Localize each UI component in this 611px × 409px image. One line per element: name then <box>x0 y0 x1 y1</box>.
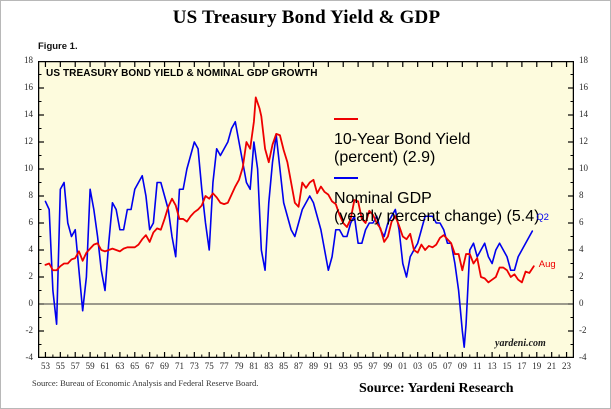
y-axis-left-tick-4: 4 <box>7 244 33 254</box>
y-axis-right-tick-2: 2 <box>579 271 605 281</box>
legend-text-bond-yield: 10-Year Bond Yield (percent) (2.9) <box>334 131 564 167</box>
y-axis-right-tick-18: 18 <box>579 55 605 65</box>
y-axis-right-tick-8: 8 <box>579 190 605 200</box>
legend-line2-nominal-gdp: (yearly percent change) (5.4) <box>334 208 564 226</box>
annotation-aug: Aug <box>539 259 556 270</box>
y-axis-left-tick-14: 14 <box>7 109 33 119</box>
legend-swatch-nominal-gdp <box>334 177 358 179</box>
y-axis-left-tick-0: 0 <box>7 298 33 308</box>
y-axis-right-tick-16: 16 <box>579 82 605 92</box>
y-axis-right-tick--2: -2 <box>579 325 605 335</box>
legend-swatch-bond-yield <box>334 118 358 120</box>
y-axis-left-tick-12: 12 <box>7 136 33 146</box>
y-axis-right-tick-6: 6 <box>579 217 605 227</box>
y-axis-left-tick-10: 10 <box>7 163 33 173</box>
chart-page: US Treasury Bond Yield & GDP Figure 1. U… <box>0 0 611 409</box>
y-axis-right-tick-4: 4 <box>579 244 605 254</box>
legend-line1-bond-yield: 10-Year Bond Yield <box>334 131 564 149</box>
legend-item-nominal-gdp: Nominal GDP (yearly percent change) (5.4… <box>334 172 564 226</box>
page-title: US Treasury Bond Yield & GDP <box>1 7 611 29</box>
y-axis-right-tick-12: 12 <box>579 136 605 146</box>
x-axis-tick-23: 23 <box>557 361 577 371</box>
chart-inner-title: US TREASURY BOND YIELD & NOMINAL GDP GRO… <box>46 68 318 79</box>
y-axis-left-tick-16: 16 <box>7 82 33 92</box>
y-axis-left-tick--2: -2 <box>7 325 33 335</box>
source-note: Source: Bureau of Economic Analysis and … <box>32 378 258 388</box>
y-axis-right-tick-10: 10 <box>579 163 605 173</box>
legend-text-nominal-gdp: Nominal GDP (yearly percent change) (5.4… <box>334 190 564 226</box>
figure-label: Figure 1. <box>38 41 78 52</box>
y-axis-right-tick-0: 0 <box>579 298 605 308</box>
watermark-yardeni: yardeni.com <box>495 338 546 349</box>
y-axis-left-tick-2: 2 <box>7 271 33 281</box>
legend-line1-nominal-gdp: Nominal GDP <box>334 190 564 208</box>
y-axis-left-tick-6: 6 <box>7 217 33 227</box>
source-brand: Source: Yardeni Research <box>359 381 514 397</box>
legend-line2-bond-yield: (percent) (2.9) <box>334 149 564 167</box>
chart-legend: 10-Year Bond Yield (percent) (2.9) Nomin… <box>334 113 564 231</box>
legend-item-bond-yield: 10-Year Bond Yield (percent) (2.9) <box>334 113 564 167</box>
annotation-q2: Q2 <box>536 212 549 223</box>
y-axis-left-tick-8: 8 <box>7 190 33 200</box>
y-axis-right-tick--4: -4 <box>579 352 605 362</box>
y-axis-left-tick-18: 18 <box>7 55 33 65</box>
y-axis-right-tick-14: 14 <box>579 109 605 119</box>
y-axis-left-tick--4: -4 <box>7 352 33 362</box>
